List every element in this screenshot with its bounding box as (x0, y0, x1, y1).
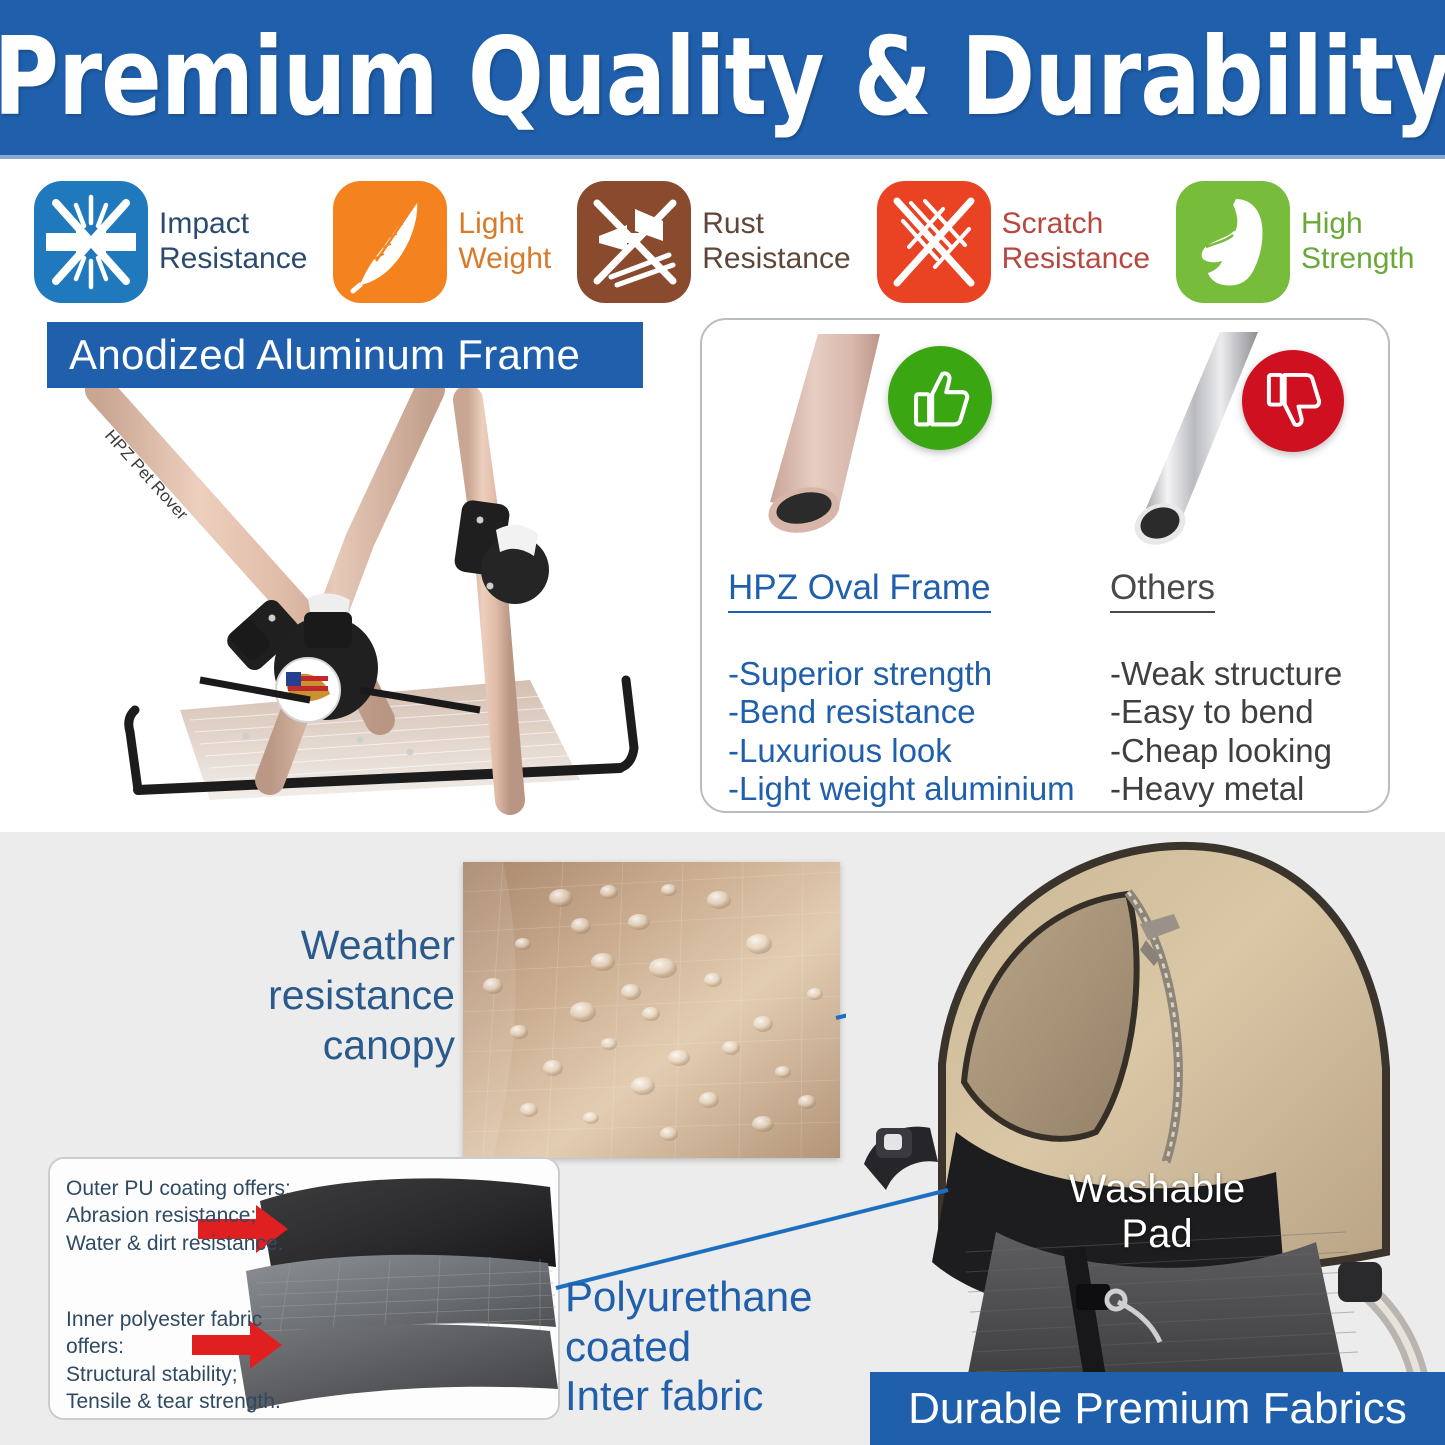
feature-label: Impact Resistance (159, 207, 307, 277)
list-item: -Weak structure (1110, 655, 1342, 693)
washable-label-line1: Washable (1032, 1167, 1282, 1212)
washable-pad-label: Washable Pad (1032, 1167, 1282, 1257)
list-item: -Luxurious look (728, 732, 1075, 770)
feature-rust-resistance: Rust Resistance (577, 181, 850, 303)
feature-label: Scratch Resistance (1002, 207, 1150, 277)
feature-label-line2: Weight (458, 242, 551, 277)
list-item: -Cheap looking (1110, 732, 1342, 770)
feature-label-line1: Light (458, 207, 523, 240)
flexed-bicep-icon (1176, 181, 1290, 303)
pu-outer-line1: Outer PU coating offers: (66, 1175, 291, 1202)
aluminum-frame-photo: HPZ Pet Rover (60, 380, 680, 820)
stroller-canopy-photo (846, 832, 1445, 1384)
pu-inner-line3: Structural stability; (66, 1361, 281, 1388)
list-item: -Easy to bend (1110, 693, 1342, 731)
header-banner: Premium Quality & Durability (0, 0, 1445, 155)
water-beading-fabric-photo (463, 862, 840, 1158)
feature-label-line1: High (1301, 207, 1363, 240)
feature-impact-resistance: Impact Resistance (34, 181, 307, 303)
feature-label-line2: Resistance (1002, 242, 1150, 277)
impact-burst-icon (34, 181, 148, 303)
pu-outer-line3: Water & dirt resistance. (66, 1230, 291, 1257)
durable-fabrics-banner: Durable Premium Fabrics (870, 1372, 1445, 1445)
pu-inner-line4: Tensile & tear strength. (66, 1388, 281, 1415)
feature-icon-strip: Impact Resistance Light Weight (0, 172, 1445, 312)
feature-label: High Strength (1301, 207, 1414, 277)
feature-label-line1: Scratch (1002, 207, 1104, 240)
comparison-list-hpz: -Superior strength -Bend resistance -Lux… (728, 655, 1075, 808)
no-scratch-icon (877, 181, 991, 303)
feature-label: Rust Resistance (702, 207, 850, 277)
poly-label-line2: coated (565, 1322, 895, 1372)
feature-label-line2: Strength (1301, 242, 1414, 277)
feature-label-line1: Impact (159, 207, 249, 240)
thumbs-up-icon (888, 346, 992, 450)
washable-label-line2: Pad (1032, 1212, 1282, 1257)
frame-comparison-panel: HPZ Oval Frame -Superior strength -Bend … (700, 318, 1390, 813)
page-title: Premium Quality & Durability (0, 15, 1445, 140)
pu-coating-callout-box: Outer PU coating offers: Abrasion resist… (48, 1157, 560, 1420)
feature-label-line2: Resistance (702, 242, 850, 277)
weather-label-line1: Weather (190, 920, 455, 970)
pu-inner-text: Inner polyester fabric offers: Structura… (66, 1306, 281, 1415)
feature-light-weight: Light Weight (333, 181, 551, 303)
feature-label: Light Weight (458, 207, 551, 277)
weather-resistance-label: Weather resistance canopy (190, 920, 455, 1070)
poly-label-line3: Inter fabric (565, 1371, 895, 1421)
poly-label-line1: Polyurethane (565, 1272, 895, 1322)
feature-high-strength: High Strength (1176, 181, 1414, 303)
no-hammer-icon (577, 181, 691, 303)
list-item: -Bend resistance (728, 693, 1075, 731)
feather-icon (333, 181, 447, 303)
comparison-heading-others: Others (1110, 568, 1215, 613)
list-item: -Light weight aluminium (728, 770, 1075, 808)
feature-label-line1: Rust (702, 207, 764, 240)
pu-outer-line2: Abrasion resistance; (66, 1202, 291, 1229)
feature-scratch-resistance: Scratch Resistance (877, 181, 1150, 303)
durable-fabrics-label: Durable Premium Fabrics (908, 1384, 1407, 1434)
thumbs-down-icon (1242, 350, 1344, 452)
list-item: -Superior strength (728, 655, 1075, 693)
pu-inner-line1: Inner polyester fabric (66, 1306, 281, 1333)
comparison-list-others: -Weak structure -Easy to bend -Cheap loo… (1110, 655, 1342, 808)
comparison-column-others: Others -Weak structure -Easy to bend -Ch… (1110, 568, 1342, 808)
weather-label-line2: resistance (190, 970, 455, 1020)
feature-label-line2: Resistance (159, 242, 307, 277)
header-divider (0, 155, 1445, 159)
pu-inner-line2: offers: (66, 1333, 281, 1360)
weather-label-line3: canopy (190, 1020, 455, 1070)
anodized-frame-label: Anodized Aluminum Frame (69, 331, 580, 379)
comparison-column-hpz: HPZ Oval Frame -Superior strength -Bend … (728, 568, 1075, 808)
pu-outer-text: Outer PU coating offers: Abrasion resist… (66, 1175, 291, 1257)
list-item: -Heavy metal (1110, 770, 1342, 808)
anodized-frame-banner: Anodized Aluminum Frame (47, 322, 643, 388)
comparison-heading-hpz: HPZ Oval Frame (728, 568, 991, 613)
polyurethane-label: Polyurethane coated Inter fabric (565, 1272, 895, 1421)
